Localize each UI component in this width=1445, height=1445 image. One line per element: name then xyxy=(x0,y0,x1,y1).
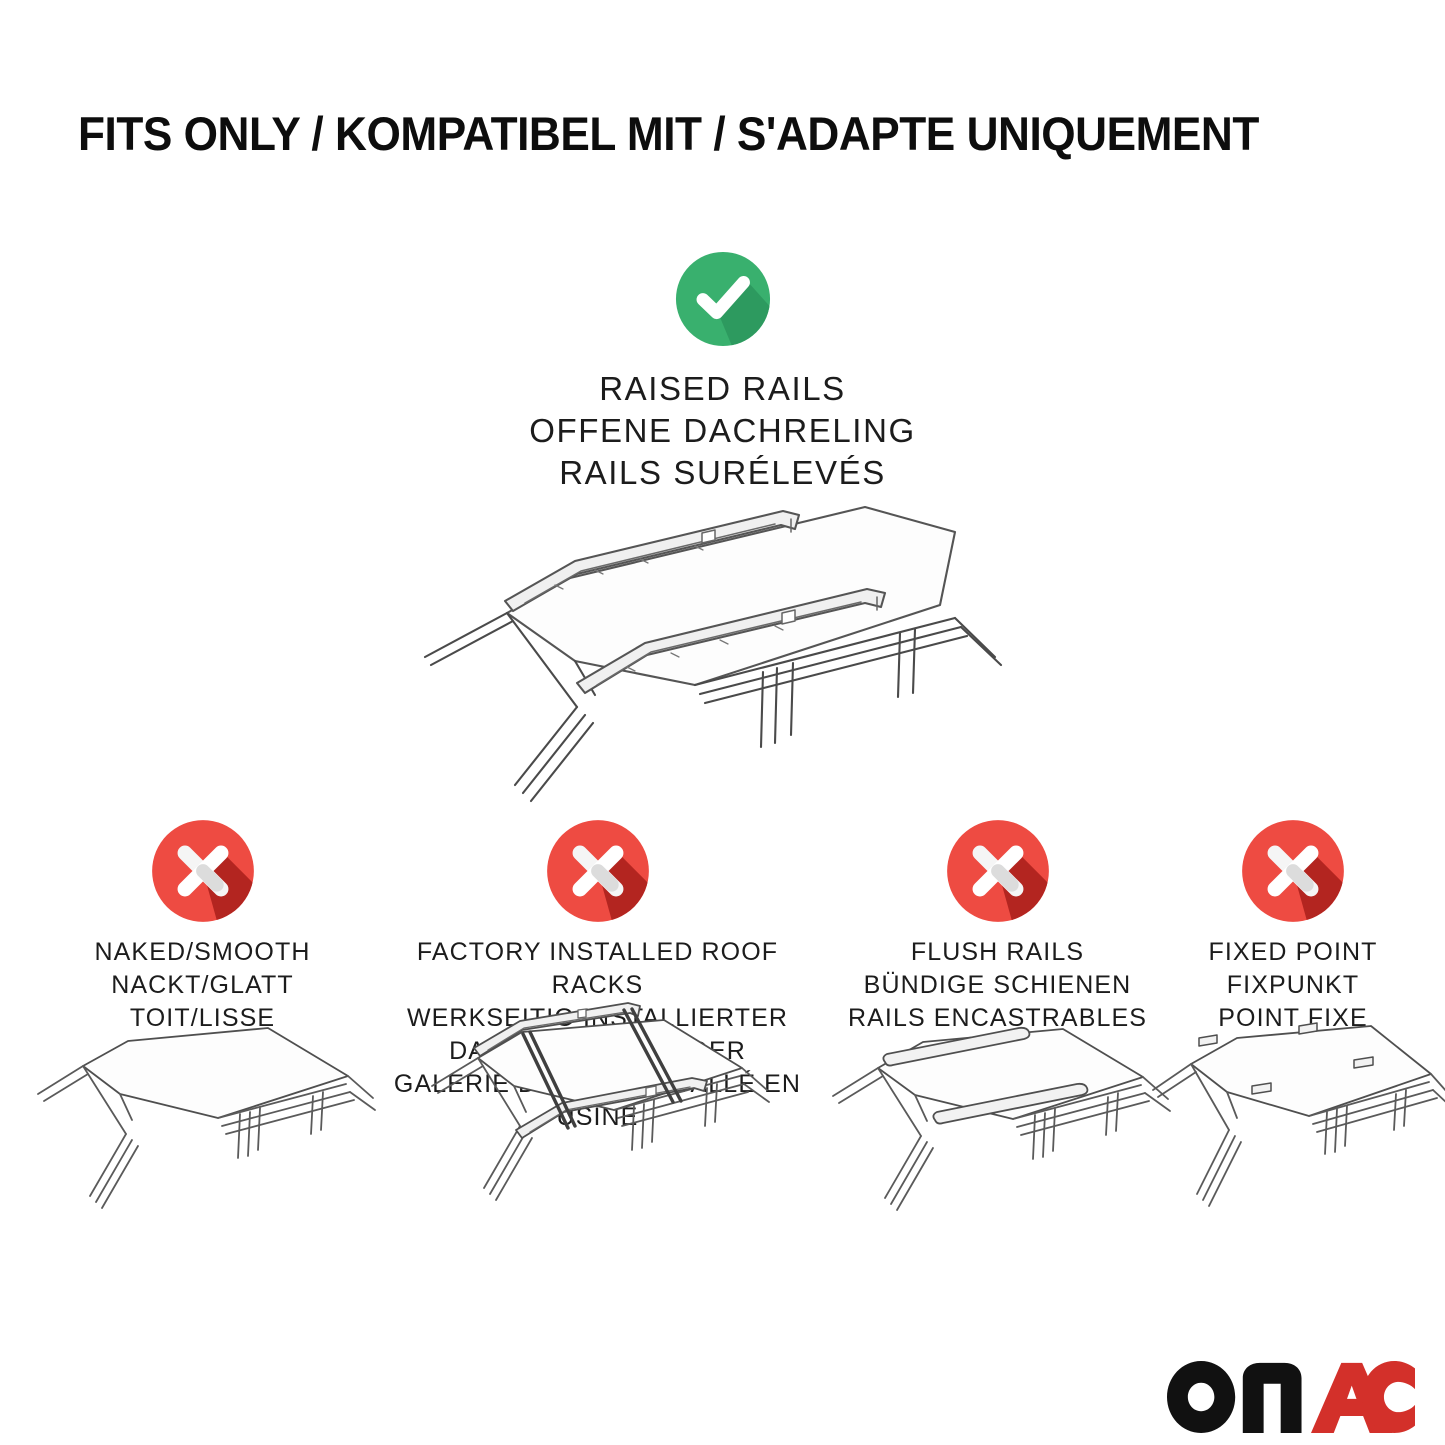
label-line-2: FIXPUNKT xyxy=(1168,969,1418,1002)
x-circle-icon xyxy=(545,818,651,924)
infographic-page: FITS ONLY / KOMPATIBEL MIT / S'ADAPTE UN… xyxy=(0,0,1445,1445)
incompatible-item-fixed-point: FIXED POINT FIXPUNKT POINT FIXE xyxy=(1168,818,1418,1035)
car-roof-flush-rails-illustration xyxy=(823,1006,1173,1236)
label-line-1: FACTORY INSTALLED ROOF RACKS xyxy=(370,936,825,1002)
incompatible-item-flush-rails: FLUSH RAILS BÜNDIGE SCHIENEN RAILS ENCAS… xyxy=(830,818,1165,1035)
omac-logo-mark xyxy=(1167,1361,1415,1433)
label-line-1: FLUSH RAILS xyxy=(830,936,1165,969)
page-title: FITS ONLY / KOMPATIBEL MIT / S'ADAPTE UN… xyxy=(78,108,1300,160)
car-roof-naked-illustration xyxy=(28,1006,378,1236)
omac-logo xyxy=(1167,1361,1415,1433)
car-roof-factory-racks-illustration xyxy=(418,996,778,1236)
compatible-section: RAISED RAILS OFFENE DACHRELING RAILS SUR… xyxy=(0,250,1445,495)
incompatible-item-factory-racks: FACTORY INSTALLED ROOF RACKS WERKSEITIG … xyxy=(370,818,825,1134)
compatible-label-line-1: RAISED RAILS xyxy=(0,368,1445,410)
x-circle-icon xyxy=(1240,818,1346,924)
car-roof-raised-rails-illustration xyxy=(395,485,1060,815)
label-line-1: NAKED/SMOOTH xyxy=(40,936,365,969)
label-line-2: BÜNDIGE SCHIENEN xyxy=(830,969,1165,1002)
incompatible-item-naked-smooth: NAKED/SMOOTH NACKT/GLATT TOIT/LISSE xyxy=(40,818,365,1035)
compatible-label-line-2: OFFENE DACHRELING xyxy=(0,410,1445,452)
label-line-1: FIXED POINT xyxy=(1168,936,1418,969)
car-roof-fixed-point-illustration xyxy=(1149,1006,1445,1236)
x-circle-icon xyxy=(150,818,256,924)
incompatible-section: NAKED/SMOOTH NACKT/GLATT TOIT/LISSE xyxy=(0,818,1445,1288)
x-circle-icon xyxy=(945,818,1051,924)
check-circle-icon xyxy=(674,250,772,348)
label-line-2: NACKT/GLATT xyxy=(40,969,365,1002)
compatible-labels: RAISED RAILS OFFENE DACHRELING RAILS SUR… xyxy=(0,368,1445,495)
